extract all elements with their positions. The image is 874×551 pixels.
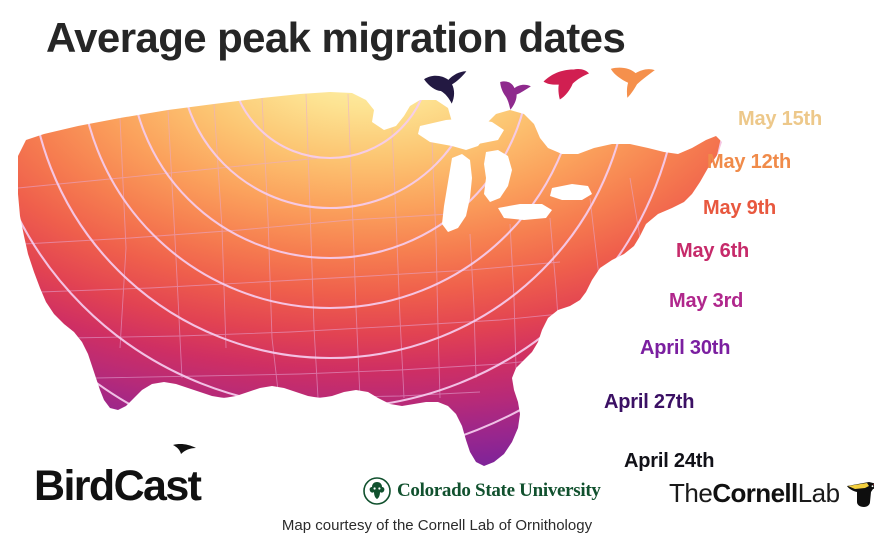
date-label-may-6: May 6th <box>676 240 749 263</box>
cornell-the: The <box>669 478 712 509</box>
cornell-name: Cornell <box>712 478 797 509</box>
date-label-may-9: May 9th <box>703 197 776 220</box>
birdcast-logo: BirdCast <box>34 462 200 511</box>
date-label-april-24: April 24th <box>624 450 714 473</box>
cornell-lab-logo: The Cornell Lab <box>669 478 874 513</box>
date-label-april-30: April 30th <box>640 337 730 360</box>
csu-ram-icon <box>363 477 391 505</box>
bird-silhouette-4-icon <box>608 63 656 106</box>
bird-silhouette-1-icon <box>421 67 475 116</box>
csu-wordmark: Colorado State University <box>397 480 601 502</box>
cornell-lab-word: Lab <box>798 478 840 509</box>
bird-silhouette-3-icon <box>542 66 593 108</box>
map-caption: Map courtesy of the Cornell Lab of Ornit… <box>0 517 874 534</box>
date-label-may-12: May 12th <box>707 151 791 174</box>
colorado-state-university-logo: Colorado State University <box>363 477 601 505</box>
bird-silhouette-2-icon <box>493 78 534 120</box>
date-label-may-15: May 15th <box>738 108 822 131</box>
date-label-april-27: April 27th <box>604 391 694 414</box>
date-label-may-3: May 3rd <box>669 290 743 313</box>
cornell-woodpecker-icon <box>843 478 874 513</box>
page-title: Average peak migration dates <box>46 14 625 62</box>
birdcast-bird-icon <box>172 443 198 466</box>
migration-map-infographic: Average peak migration dates <box>0 0 874 551</box>
